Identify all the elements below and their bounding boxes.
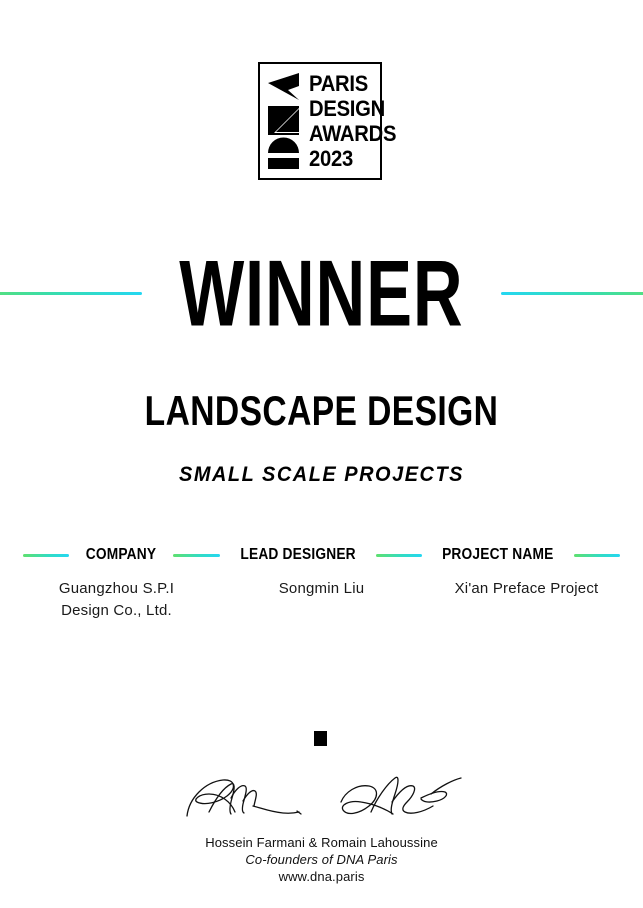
award-subcategory: SMALL SCALE PROJECTS [16, 462, 627, 488]
logo-line-year: 2023 [309, 147, 396, 170]
award-title: WINNER [179, 246, 463, 340]
credits-header-lead-designer: LEAD DESIGNER [238, 546, 357, 564]
credits-rule-2 [173, 554, 219, 557]
winner-banner: WINNER [0, 243, 643, 343]
credit-value-project-name: Xi'an Preface Project [424, 578, 629, 622]
company-line-1: Guangzhou S.P.I [14, 578, 219, 600]
credits-header-project-name: PROJECT NAME [441, 546, 556, 564]
footer-cofounder-role: Co-founders of DNA Paris [0, 851, 643, 868]
credits-rule-3 [376, 554, 422, 557]
credits-rule-1 [23, 554, 69, 557]
credit-value-lead-designer: Songmin Liu [219, 578, 424, 622]
signature-romain-lahoussine-icon [335, 768, 465, 828]
credit-value-company: Guangzhou S.P.I Design Co., Ltd. [14, 578, 219, 622]
square-seal-mark [314, 731, 327, 746]
award-category: LANDSCAPE DESIGN [64, 388, 578, 434]
logo-wordmark: PARIS DESIGN AWARDS 2023 [302, 72, 404, 170]
winner-rule-left [0, 292, 142, 295]
logo-line-design: DESIGN [309, 97, 396, 120]
dna-monogram-icon [268, 73, 302, 169]
logo-line-paris: PARIS [309, 72, 396, 95]
credits-values: Guangzhou S.P.I Design Co., Ltd. Songmin… [0, 578, 643, 622]
company-line-2: Design Co., Ltd. [14, 600, 219, 622]
credits-rule-4 [574, 554, 620, 557]
certificate-page: PARIS DESIGN AWARDS 2023 WINNER LANDSCAP… [0, 0, 643, 908]
footer-cofounder-names: Hossein Farmani & Romain Lahoussine [0, 834, 643, 851]
lead-designer-name: Songmin Liu [219, 578, 424, 600]
paris-design-awards-logo: PARIS DESIGN AWARDS 2023 [258, 62, 382, 180]
footer-website-url[interactable]: www.dna.paris [0, 868, 643, 886]
credits-headers: COMPANY LEAD DESIGNER PROJECT NAME [0, 544, 643, 566]
logo-line-awards: AWARDS [309, 122, 396, 145]
credits-section: COMPANY LEAD DESIGNER PROJECT NAME Guang… [0, 544, 643, 622]
footer: Hossein Farmani & Romain Lahoussine Co-f… [0, 834, 643, 886]
project-name-value: Xi'an Preface Project [424, 578, 629, 600]
winner-rule-right [501, 292, 643, 295]
credits-header-company: COMPANY [84, 546, 158, 564]
signature-hossein-farmani-icon [179, 768, 309, 828]
signatures-row [0, 768, 643, 828]
